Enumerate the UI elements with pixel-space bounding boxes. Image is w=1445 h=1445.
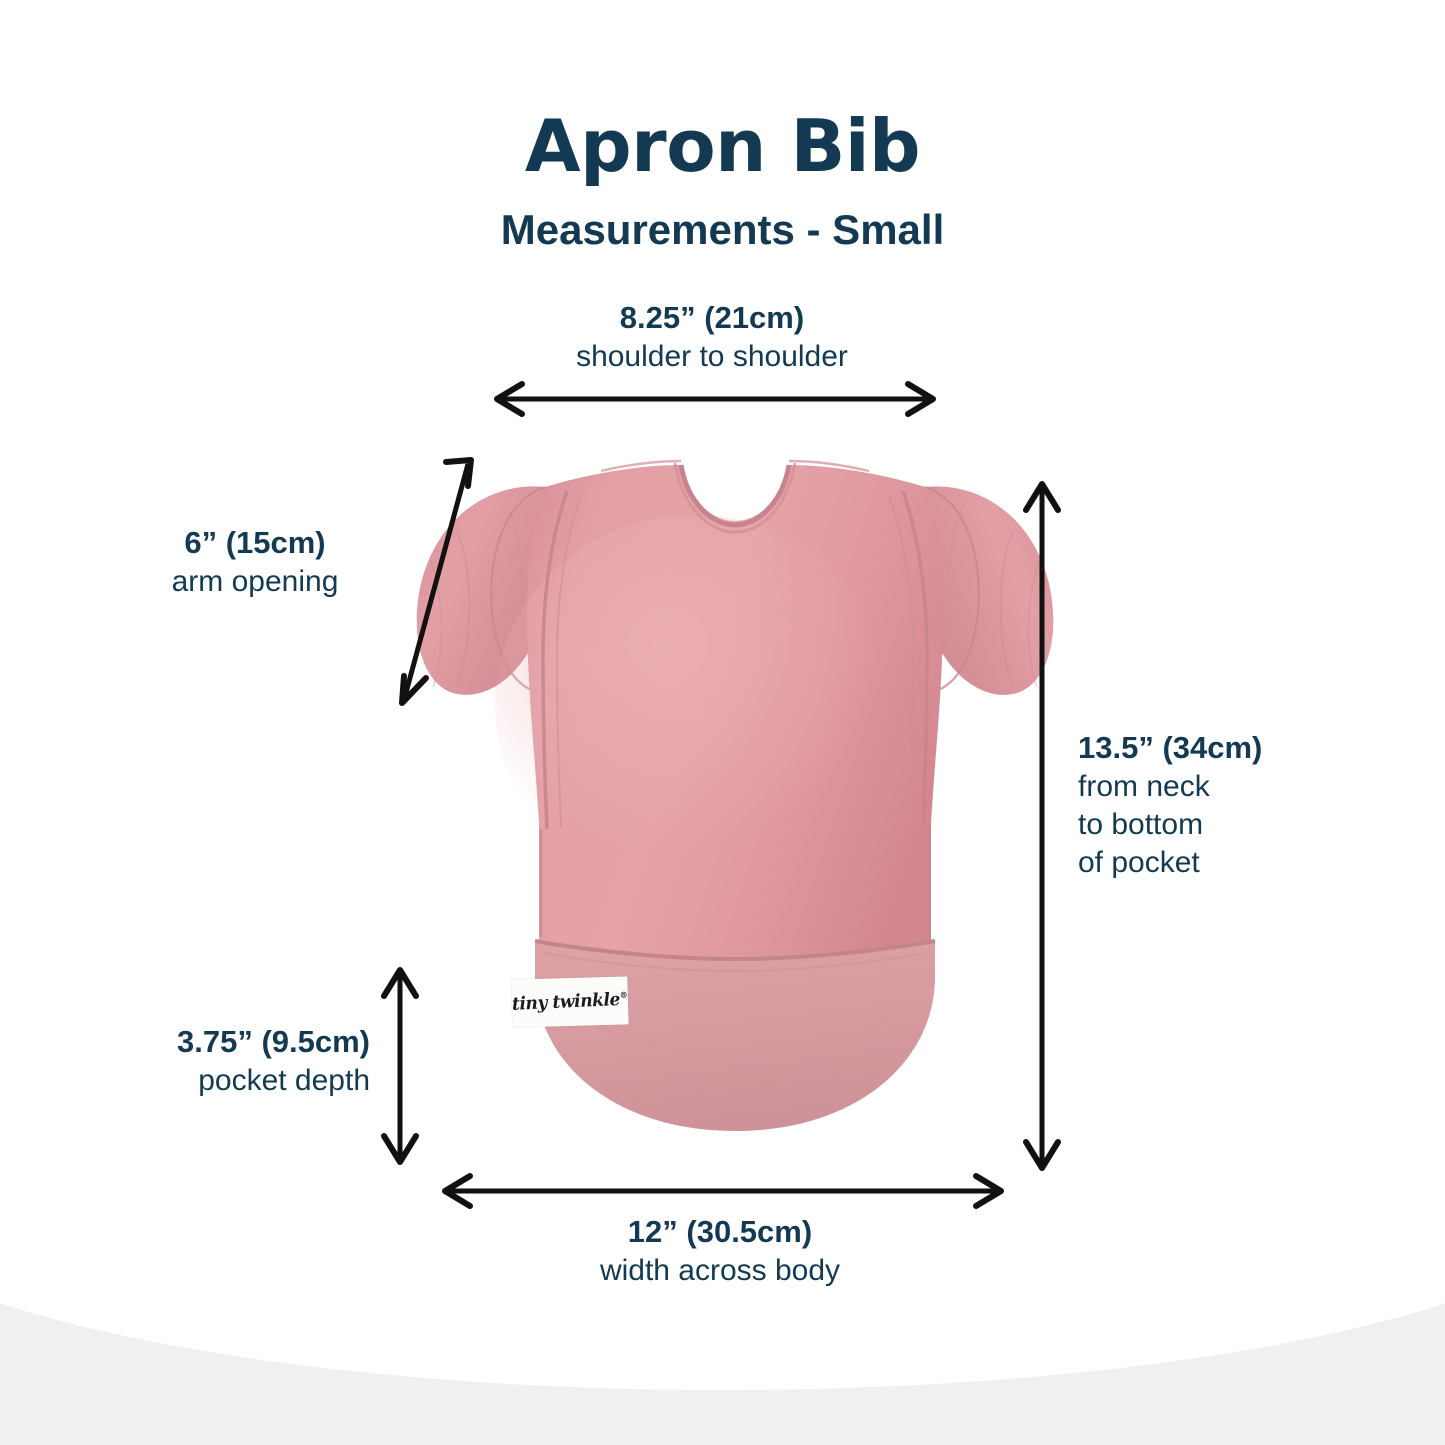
front-pocket: [535, 941, 935, 1131]
measurement-neck-to-pocket-description-line1: from neck: [1078, 768, 1408, 806]
apron-bib-illustration: [395, 425, 1075, 1165]
page-subtitle: Measurements - Small: [0, 206, 1445, 254]
page-title: Apron Bib: [0, 104, 1445, 188]
shoulder-dimension-arrow: [480, 382, 950, 416]
measurement-pocket-depth-description: pocket depth: [40, 1062, 370, 1100]
measurement-arm-opening-value: 6” (15cm): [100, 523, 410, 563]
measurement-neck-to-pocket-description-line2: to bottom: [1078, 806, 1408, 844]
measurement-neck-to-pocket-description-line3: of pocket: [1078, 844, 1408, 882]
measurement-shoulder: 8.25” (21cm) shoulder to shoulder: [392, 298, 1032, 376]
measurement-shoulder-value: 8.25” (21cm): [392, 298, 1032, 338]
measurement-arm-opening-description: arm opening: [100, 563, 410, 601]
measurement-width-value: 12” (30.5cm): [400, 1212, 1040, 1252]
width-dimension-arrow: [428, 1174, 1018, 1208]
measurement-arm-opening: 6” (15cm) arm opening: [100, 523, 410, 601]
neck-to-pocket-dimension-arrow: [1022, 472, 1062, 1180]
measurement-pocket-depth-value: 3.75” (9.5cm): [40, 1022, 370, 1062]
pocket-depth-dimension-arrow: [380, 958, 420, 1174]
measurement-pocket-depth: 3.75” (9.5cm) pocket depth: [40, 1022, 370, 1100]
footer-band: [0, 1300, 1445, 1445]
measurement-diagram: Apron Bib Measurements - Small: [0, 0, 1445, 1445]
measurement-width-across-body: 12” (30.5cm) width across body: [400, 1212, 1040, 1290]
measurement-shoulder-description: shoulder to shoulder: [392, 338, 1032, 376]
measurement-width-description: width across body: [400, 1252, 1040, 1290]
brand-label-tag: tiny twinkle®: [511, 976, 628, 1027]
measurement-neck-to-pocket-value: 13.5” (34cm): [1078, 728, 1408, 768]
brand-label-text: tiny twinkle®: [512, 989, 628, 1015]
measurement-neck-to-pocket: 13.5” (34cm) from neck to bottom of pock…: [1078, 728, 1408, 883]
